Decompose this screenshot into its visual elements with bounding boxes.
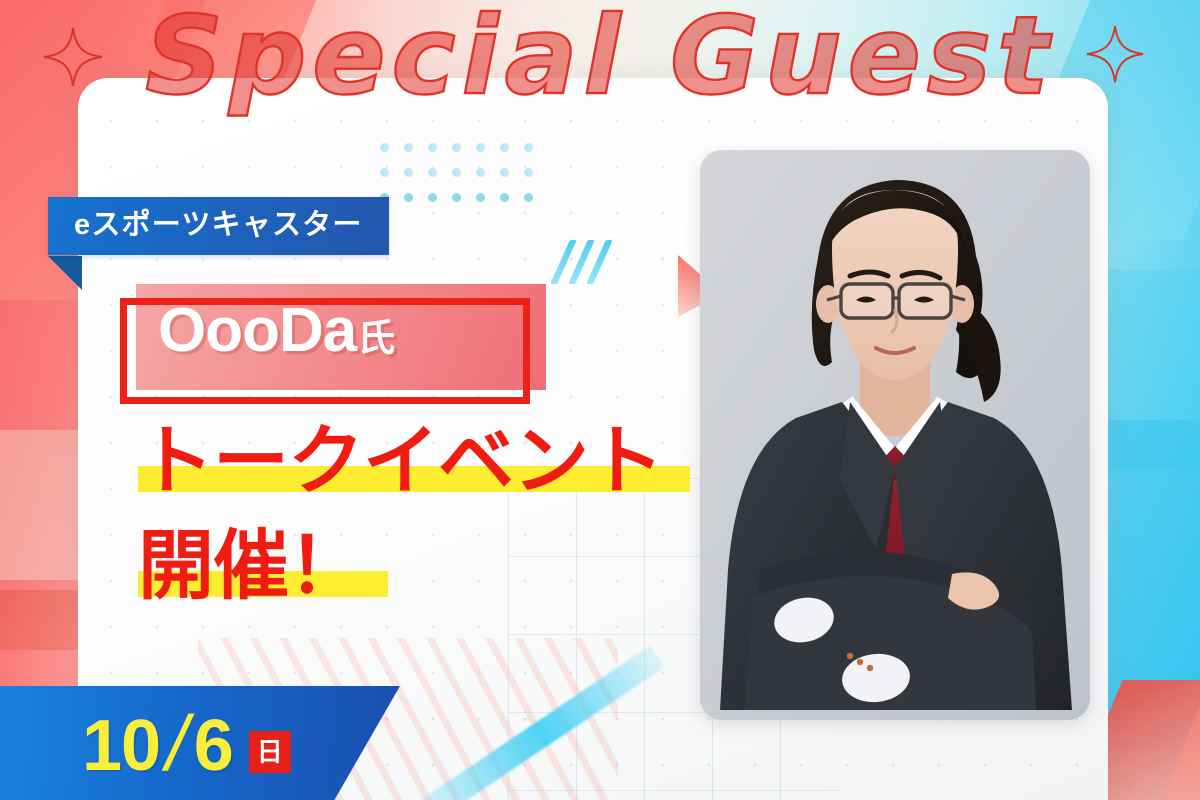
background-band-right-5 [1117,580,1200,800]
event-headline-line-1: トークイベント [138,424,663,500]
special-guest-banner: Special Guest eスポーツキャスター OooDa氏 トークイベント [0,0,1200,800]
avatar [700,150,1090,720]
guest-name: OooDa氏 [132,288,414,376]
event-month: 10 [82,712,160,780]
date-separator: / [166,706,188,780]
diagonal-slashes-decoration [560,240,603,284]
page-title: Special Guest [0,0,1200,119]
event-date-ribbon: 10 / 6 日 [0,686,400,800]
event-headline-line-2: 開催！ [138,529,363,605]
event-day: 6 [194,712,233,780]
sparkle-icon [1085,24,1145,84]
portrait-illustration [700,150,1090,720]
event-date: 10 / 6 日 [0,706,291,780]
sparkle-icon [42,26,104,88]
role-badge-fold [48,256,82,290]
guest-name-box: OooDa氏 [132,288,414,376]
guest-name-suffix: 氏 [357,318,394,360]
event-headline-line-2-text: 開催！ [138,524,363,609]
dot-grid-decoration [380,143,548,218]
event-headline-line-1-text: トークイベント [138,419,663,504]
guest-name-text: OooDa [158,296,356,365]
event-weekday: 日 [249,731,291,773]
status-badge: eスポーツキャスター [48,197,389,255]
